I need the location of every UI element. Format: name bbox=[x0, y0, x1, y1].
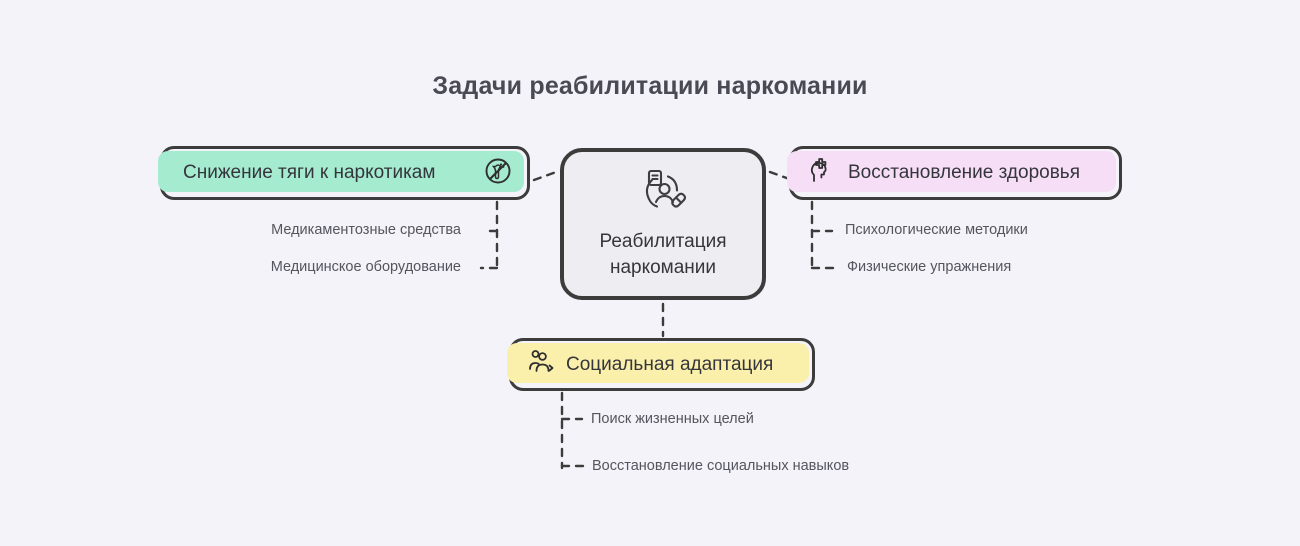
person-document-pill-icon bbox=[637, 168, 689, 219]
center-label-line1: Реабилитация bbox=[599, 229, 726, 255]
sub-label-craving-2: Медицинское оборудование bbox=[161, 259, 461, 275]
center-label: Реабилитация наркомании bbox=[599, 229, 726, 281]
head-medical-cross-icon bbox=[806, 156, 836, 191]
branch-label-health: Восстановление здоровья bbox=[848, 162, 1080, 184]
branch-node-health[interactable]: Восстановление здоровья bbox=[789, 146, 1122, 200]
sub-label-social-1: Поиск жизненных целей bbox=[591, 411, 754, 427]
connector-craving-center bbox=[534, 172, 556, 180]
sub-label-craving-1: Медикаментозные средства bbox=[161, 222, 461, 238]
branch-label-craving: Снижение тяги к наркотикам bbox=[183, 162, 435, 184]
mindmap-canvas: Задачи реабилитации наркомании Снижение … bbox=[0, 0, 1300, 546]
no-drugs-icon bbox=[483, 156, 513, 191]
sub-label-health-2: Физические упражнения bbox=[847, 259, 1011, 275]
center-node[interactable]: Реабилитация наркомании bbox=[560, 148, 766, 300]
sub-label-health-1: Психологические методики bbox=[845, 222, 1028, 238]
branch-label-social: Социальная адаптация bbox=[566, 354, 773, 376]
sub-label-social-2: Восстановление социальных навыков bbox=[592, 458, 849, 474]
center-label-line2: наркомании bbox=[599, 255, 726, 281]
page-title: Задачи реабилитации наркомании bbox=[0, 72, 1300, 101]
people-group-icon bbox=[526, 347, 556, 382]
branch-node-social[interactable]: Социальная адаптация bbox=[509, 338, 815, 391]
branch-node-craving[interactable]: Снижение тяги к наркотикам bbox=[160, 146, 530, 200]
